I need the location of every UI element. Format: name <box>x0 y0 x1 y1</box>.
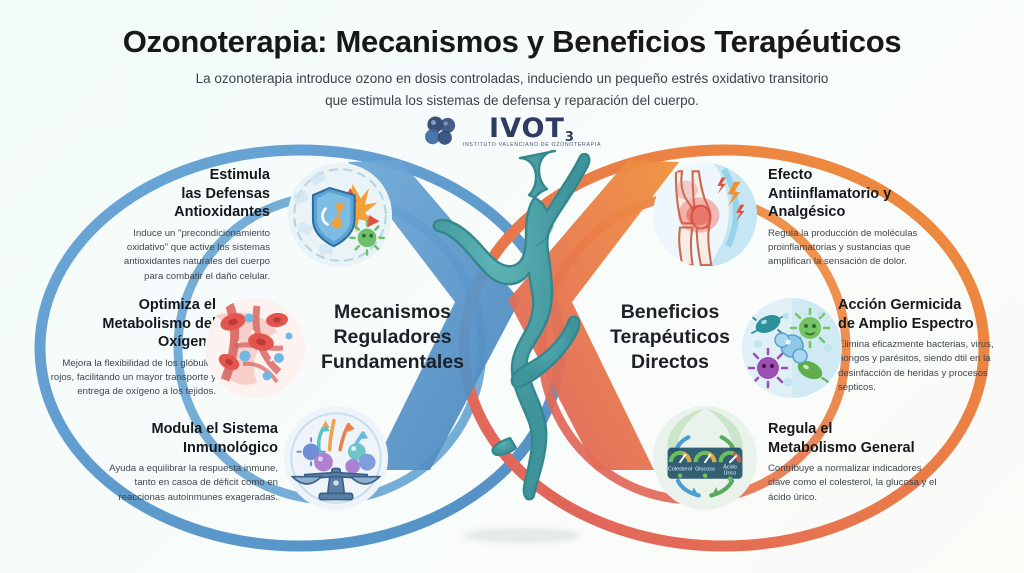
block-body: Ayuda a equilibrar la respuesta inmune, … <box>108 462 278 505</box>
block-general-metabolism: Regula el Metabolismo General Contribuye… <box>768 420 938 505</box>
inflamed-knee-joint-icon <box>653 163 757 267</box>
center-label-benefits: Beneficios Terapéuticos Directos <box>585 300 755 375</box>
title-line-1: Optimiza el <box>139 297 216 313</box>
block-antioxidant-defenses: Estimula las Defensas Antioxidantes Indu… <box>118 166 270 284</box>
gauge-label-uric-acid: Ácido <box>723 463 737 470</box>
immune-balance-scale-icon <box>284 406 388 510</box>
center-right-line-3: Directos <box>585 350 755 375</box>
block-title: Modula el Sistema Inmunológico <box>108 420 278 457</box>
page-subtitle: La ozonoterapia introduce ozono en dosis… <box>192 68 832 112</box>
block-oxygen-metabolism: Optimiza el Metabolismo del Oxígeno Mejo… <box>48 296 216 400</box>
title-line-2: Metabolismo General <box>768 440 915 456</box>
block-title: Estimula las Defensas Antioxidantes <box>118 166 270 222</box>
block-title: Regula el Metabolismo General <box>768 420 938 457</box>
logo-tagline: INSTITUTO VALENCIANO DE OZONOTERAPIA <box>463 142 601 148</box>
logo-wordmark: IVOT3 <box>489 116 575 142</box>
gauge-label-cholesterol: Colesterol <box>668 466 692 472</box>
block-germicidal-action: Acción Germicida de Amplio Espectro Elim… <box>838 296 1006 396</box>
infographic-canvas: Ozonoterapia: Mecanismos y Beneficios Te… <box>0 0 1024 573</box>
title-line-3: Analgésico <box>768 204 845 220</box>
block-body: Contribuye a normalizar indicadores clav… <box>768 462 938 505</box>
title-line-1: Regula el <box>768 421 832 437</box>
block-body: Elimina eficazmente bacterias, virus, ho… <box>838 338 1006 396</box>
center-right-line-1: Beneficios <box>585 300 755 325</box>
page-title: Ozonoterapia: Mecanismos y Beneficios Te… <box>0 24 1024 60</box>
logo-subscript: 3 <box>565 130 575 145</box>
title-line-1: Modula el Sistema <box>151 421 278 437</box>
block-title: Acción Germicida de Amplio Espectro <box>838 296 1006 333</box>
title-line-2: las Defensas <box>181 186 270 202</box>
title-line-2: Inmunológico <box>183 440 278 456</box>
logo-word-main: IVO <box>489 113 545 144</box>
block-title: Optimiza el Metabolismo del Oxígeno <box>48 296 216 352</box>
title-line-1: Efecto <box>768 167 812 183</box>
block-title: Efecto Antiinflamatorio y Analgésico <box>768 166 928 222</box>
title-line-1: Estimula <box>210 167 270 183</box>
center-label-mechanisms: Mecanismos Reguladores Fundamentales <box>305 300 480 375</box>
logo-word-tail: T <box>545 113 564 144</box>
block-body: Regula la producción de moléculas proinf… <box>768 227 928 270</box>
center-left-line-3: Fundamentales <box>305 350 480 375</box>
center-left-line-2: Reguladores <box>305 325 480 350</box>
center-left-line-1: Mecanismos <box>305 300 480 325</box>
title-line-3: Antioxidantes <box>174 204 270 220</box>
germs-microbes-icon <box>742 298 842 398</box>
title-line-1: Acción Germicida <box>838 297 961 313</box>
center-right-line-2: Terapéuticos <box>585 325 755 350</box>
block-body: Mejora la flexibilidad de los glóbulos r… <box>48 357 216 400</box>
metabolic-gauges-icon: Colesterol Glucosa Ácido Úrico <box>653 406 757 510</box>
title-line-2: Antiinflamatorio y <box>768 186 891 202</box>
shield-antioxidant-icon <box>288 163 392 267</box>
red-blood-cells-icon <box>205 298 305 398</box>
brand-logo: IVOT3 INSTITUTO VALENCIANO DE OZONOTERAP… <box>412 110 612 154</box>
block-body: Induce un "precondicionamiento oxidativo… <box>118 227 270 285</box>
block-antiinflammatory: Efecto Antiinflamatorio y Analgésico Reg… <box>768 166 928 270</box>
block-immune-modulation: Modula el Sistema Inmunológico Ayuda a e… <box>108 420 278 505</box>
figure-shadow <box>463 528 581 543</box>
molecule-logo-icon <box>423 116 461 148</box>
gauge-label-uric-acid-2: Úrico <box>724 470 737 477</box>
virus-glyph <box>350 221 383 254</box>
gauge-label-glucose: Glucosa <box>695 466 715 472</box>
title-line-2: Metabolismo del Oxígeno <box>102 316 216 351</box>
title-line-2: de Amplio Espectro <box>838 316 974 332</box>
virus-purple <box>749 349 787 387</box>
